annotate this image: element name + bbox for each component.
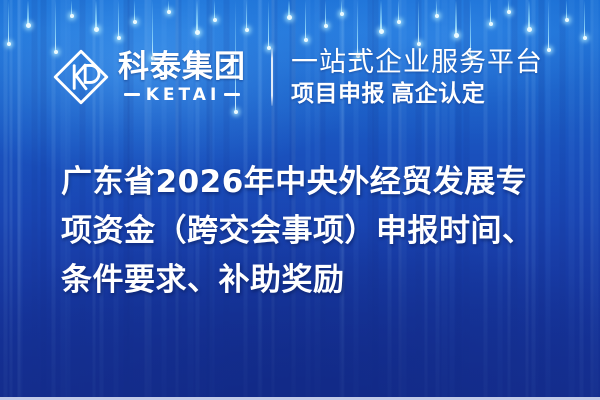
light-streak-icon xyxy=(584,0,585,38)
logo-p-shape xyxy=(85,65,99,82)
light-streak-icon xyxy=(341,0,342,14)
light-streak-icon xyxy=(134,0,135,22)
light-streak-icon xyxy=(95,0,97,30)
streak-head-icon xyxy=(94,27,99,32)
streak-head-icon xyxy=(195,30,200,35)
promotional-banner: 科泰集团 KETAI 一站式企业服务平台 项目申报 高企认定 广东省2026年中… xyxy=(0,0,600,400)
header-divider xyxy=(271,48,273,106)
light-streak-icon xyxy=(398,0,399,22)
streak-head-icon xyxy=(435,14,439,18)
streak-head-icon xyxy=(527,27,532,32)
streak-head-icon xyxy=(245,28,249,32)
light-streak-icon xyxy=(436,0,437,16)
light-streak-icon xyxy=(305,0,306,40)
light-streak-icon xyxy=(168,0,169,12)
light-streak-icon xyxy=(214,0,215,20)
banner-header: 科泰集团 KETAI 一站式企业服务平台 项目申报 高企认定 xyxy=(0,44,600,110)
streak-head-icon xyxy=(26,23,31,28)
streak-head-icon xyxy=(304,38,308,42)
streak-head-icon xyxy=(133,20,137,24)
light-streak-icon xyxy=(455,0,457,36)
light-streak-icon xyxy=(380,0,382,32)
streak-head-icon xyxy=(324,24,328,28)
light-streak-icon xyxy=(268,0,269,48)
streak-head-icon xyxy=(340,12,344,16)
dash-left-icon xyxy=(124,93,140,96)
brand-tagline: 一站式企业服务平台 项目申报 高企认定 xyxy=(291,47,543,107)
light-streak-icon xyxy=(8,0,9,44)
streak-head-icon xyxy=(489,22,493,26)
streak-head-icon xyxy=(454,33,459,38)
streak-head-icon xyxy=(213,18,217,22)
streak-head-icon xyxy=(117,36,121,40)
light-streak-icon xyxy=(27,0,29,26)
light-streak-icon xyxy=(325,0,326,26)
light-streak-icon xyxy=(508,0,509,12)
streak-head-icon xyxy=(379,29,384,34)
streak-head-icon xyxy=(70,14,74,18)
streak-head-icon xyxy=(397,20,401,24)
dash-right-icon xyxy=(224,93,240,96)
tagline-main: 一站式企业服务平台 xyxy=(291,47,543,78)
light-streak-icon xyxy=(548,0,549,50)
light-streak-icon xyxy=(418,0,419,44)
light-streak-icon xyxy=(566,0,567,20)
streak-head-icon xyxy=(167,10,171,14)
brand-name-cn: 科泰集团 xyxy=(118,51,246,84)
light-streak-icon xyxy=(490,0,491,24)
banner-title: 广东省2026年中央外经贸发展专项资金（跨交会事项）申报时间、条件要求、补助奖励 xyxy=(61,158,543,305)
light-streak-icon xyxy=(71,0,72,16)
streak-head-icon xyxy=(583,36,587,40)
brand-logo[interactable]: 科泰集团 KETAI xyxy=(52,48,246,106)
light-streak-icon xyxy=(118,0,119,38)
streak-head-icon xyxy=(507,10,511,14)
tagline-sub: 项目申报 高企认定 xyxy=(291,81,543,107)
light-streak-icon xyxy=(528,0,530,30)
brand-name-en-row: KETAI xyxy=(118,86,246,104)
ketai-diamond-kp-icon xyxy=(52,48,110,106)
light-streak-icon xyxy=(246,0,247,30)
streak-head-icon xyxy=(234,110,238,114)
light-streak-icon xyxy=(288,0,290,18)
light-streak-icon xyxy=(196,0,198,33)
streak-head-icon xyxy=(565,18,569,22)
brand-name-en: KETAI xyxy=(140,86,225,104)
brand-wordmark: 科泰集团 KETAI xyxy=(118,51,246,104)
streak-head-icon xyxy=(287,15,292,20)
